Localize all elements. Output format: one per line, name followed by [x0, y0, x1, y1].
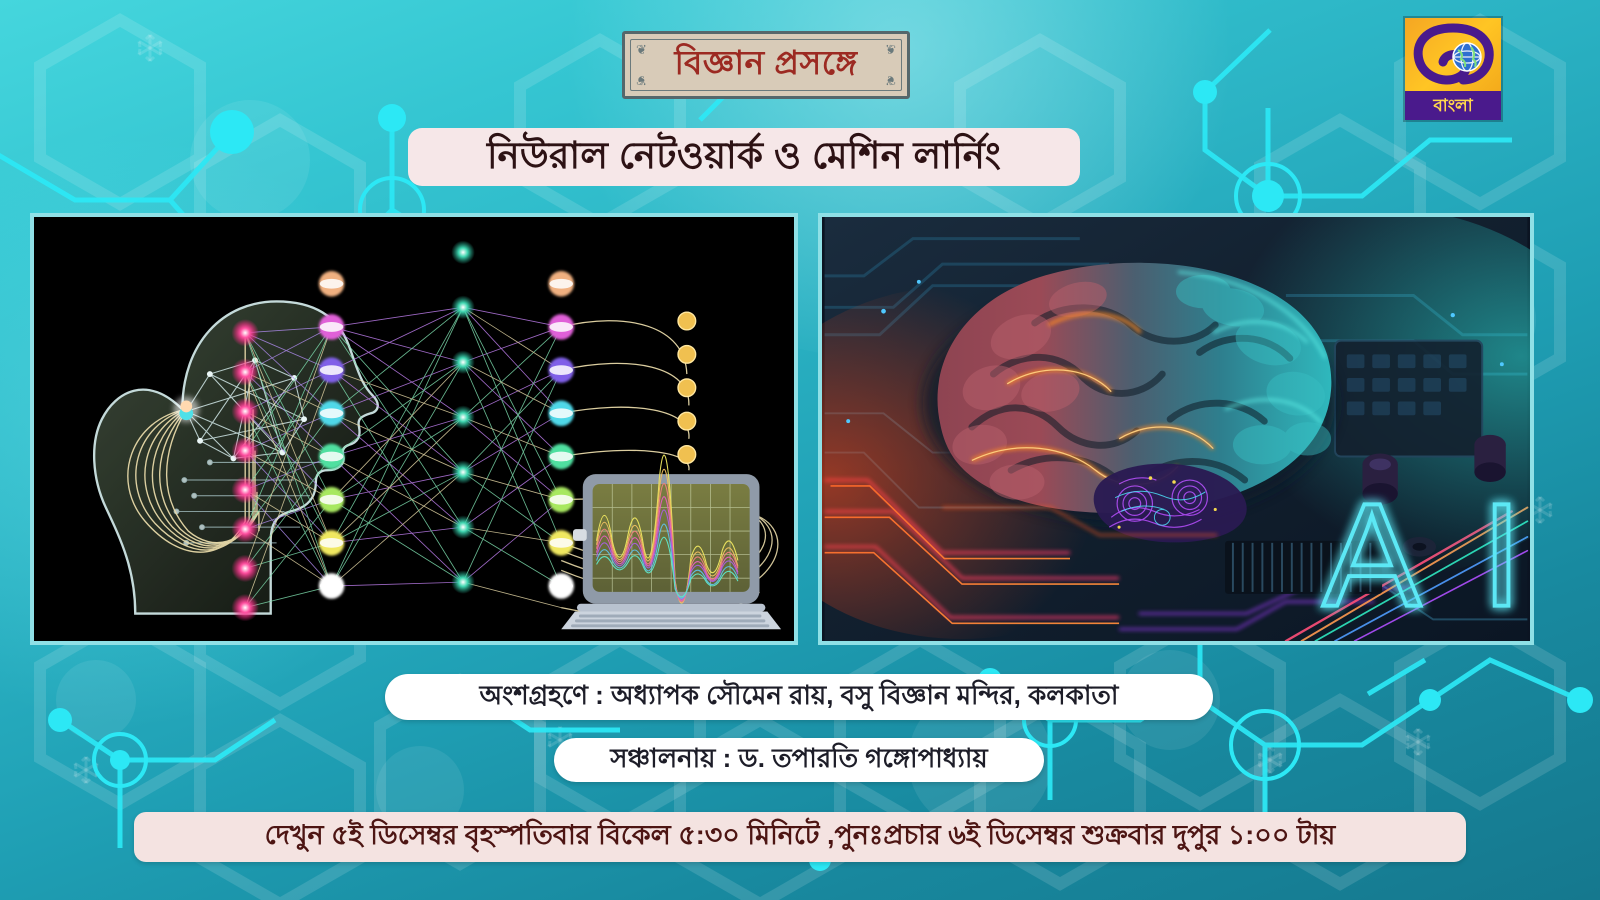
laptop-graphic [561, 455, 781, 629]
channel-name-band: বাংলা [1405, 91, 1501, 120]
svg-text:A I: A I [1323, 474, 1530, 638]
plaque-flourish-icon: ❦ [883, 73, 898, 88]
ai-brain-circuit-image: A I [818, 213, 1534, 645]
channel-logo: বাংলা [1405, 18, 1501, 120]
participant-credit-pill: অংশগ্রহণে : অধ্যাপক সৌমেন রায়, বসু বিজ্… [385, 674, 1213, 720]
broadcast-promo-poster: ❦ ❦ ❦ ❦ বিজ্ঞান প্রসঙ্গে বাংলা নিউরাল নে… [0, 0, 1600, 900]
series-title-plaque: ❦ ❦ ❦ ❦ বিজ্ঞান প্রসঙ্গে [622, 31, 910, 99]
neural-network-graphic [34, 217, 794, 641]
host-credit-pill: সঞ্চালনায় : ড. তপারতি গঙ্গোপাধ্যায় [554, 738, 1044, 782]
plaque-flourish-icon: ❦ [883, 42, 898, 57]
schedule-banner: দেখুন ৫ই ডিসেম্বর বৃহস্পতিবার বিকেল ৫:৩০… [134, 812, 1466, 862]
plaque-flourish-icon: ❦ [634, 73, 649, 88]
episode-title-pill: নিউরাল নেটওয়ার্ক ও মেশিন লার্নিং [408, 128, 1080, 186]
channel-name-text: বাংলা [1433, 97, 1472, 114]
participant-credit-text: অংশগ্রহণে : অধ্যাপক সৌমেন রায়, বসু বিজ্… [480, 675, 1119, 719]
neural-network-illustration [30, 213, 798, 645]
schedule-text: দেখুন ৫ই ডিসেম্বর বৃহস্পতিবার বিকেল ৫:৩০… [265, 815, 1336, 860]
brain-circuit-graphic: A I [822, 217, 1530, 641]
plaque-flourish-icon: ❦ [634, 42, 649, 57]
series-title-text: বিজ্ঞান প্রসঙ্গে [675, 37, 858, 93]
doordarshan-eye-icon [1405, 20, 1501, 92]
ai-overlay-text: A I [1323, 474, 1530, 638]
episode-title-text: নিউরাল নেটওয়ার্ক ও মেশিন লার্নিং [487, 126, 1001, 189]
host-credit-text: সঞ্চালনায় : ড. তপারতি গঙ্গোপাধ্যায় [610, 738, 987, 782]
